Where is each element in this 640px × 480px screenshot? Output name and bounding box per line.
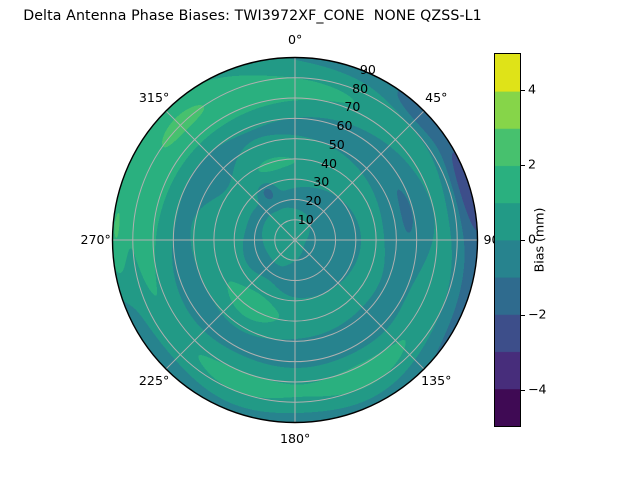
page-title: Delta Antenna Phase Biases: TWI3972XF_CO… — [0, 8, 505, 24]
theta-tick-135: 135° — [421, 375, 451, 388]
theta-tick-0: 0° — [288, 34, 302, 47]
radial-tick-70: 70 — [344, 101, 360, 114]
polar-contour-plot — [110, 55, 480, 425]
radial-tick-40: 40 — [321, 158, 337, 171]
radial-tick-50: 50 — [329, 139, 345, 152]
theta-tick-45: 45° — [425, 92, 447, 105]
radial-tick-30: 30 — [313, 176, 329, 189]
colorbar-axis-label: Bias (mm) — [534, 208, 547, 273]
colorbar-tick-label-1: −2 — [528, 309, 547, 322]
radial-tick-90: 90 — [360, 64, 376, 77]
theta-tick-180: 180° — [280, 433, 310, 446]
colorbar-tick-label-4: 4 — [528, 84, 536, 97]
radial-tick-10: 10 — [298, 214, 314, 227]
radial-tick-60: 60 — [337, 120, 353, 133]
colorbar-tick-mark-4 — [521, 90, 525, 91]
colorbar-gradient — [494, 53, 521, 427]
colorbar-tick-mark-3 — [521, 165, 525, 166]
colorbar-tick-mark-2 — [521, 240, 525, 241]
colorbar — [494, 53, 521, 427]
polar-axes — [110, 55, 480, 425]
figure-canvas: Delta Antenna Phase Biases: TWI3972XF_CO… — [0, 0, 640, 480]
colorbar-tick-mark-0 — [521, 390, 525, 391]
colorbar-tick-mark-1 — [521, 315, 525, 316]
theta-tick-315: 315° — [139, 92, 169, 105]
theta-tick-270: 270° — [81, 234, 111, 247]
radial-tick-80: 80 — [352, 83, 368, 96]
colorbar-tick-label-0: −4 — [528, 383, 547, 396]
theta-tick-225: 225° — [139, 375, 169, 388]
colorbar-tick-label-3: 2 — [528, 159, 536, 172]
radial-tick-20: 20 — [306, 195, 322, 208]
